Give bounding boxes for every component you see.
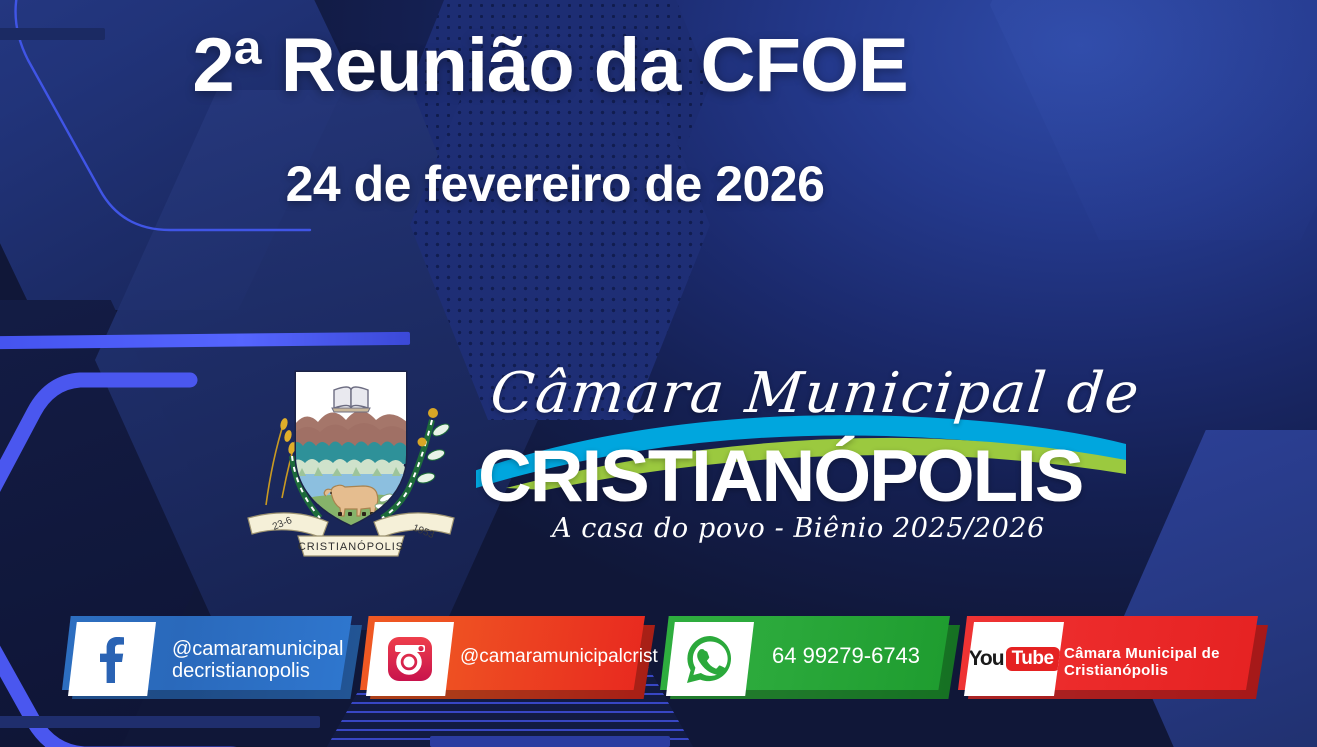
logo-script-line: Câmara Municipal de	[488, 361, 1144, 426]
social-bar-whatsapp[interactable]: 64 99279-6743	[660, 616, 950, 690]
youtube-logo-you: You	[968, 647, 1003, 671]
logo-tagline: A casa do povo - Biênio 2025/2026	[552, 513, 1045, 544]
whatsapp-number: 64 99279-6743	[772, 644, 920, 669]
facebook-icon-tab	[68, 622, 156, 696]
logo-city-name: CRISTIANÓPOLIS	[478, 435, 1082, 518]
youtube-icon: You Tube	[968, 647, 1059, 671]
youtube-icon-tab: You Tube	[964, 622, 1064, 696]
instagram-handle: @camaramunicipalcrist	[460, 646, 658, 667]
facebook-handle-line2: decristianopolis	[172, 660, 343, 682]
facebook-icon	[95, 635, 129, 683]
instagram-icon	[387, 636, 433, 682]
coat-of-arms-icon: 23-6 CRISTIANÓPOLIS 1953	[236, 360, 466, 565]
whatsapp-icon-tab	[666, 622, 754, 696]
background-hexagon-right	[1120, 430, 1317, 747]
social-bar-youtube[interactable]: You Tube Câmara Municipal de Cristianópo…	[958, 616, 1258, 690]
youtube-logo-tube: Tube	[1006, 647, 1060, 671]
wordmark: Câmara Municipal de CRISTIANÓPOLIS A cas…	[476, 355, 1136, 570]
ribbon-center-text: CRISTIANÓPOLIS	[298, 540, 404, 553]
instagram-icon-tab	[366, 622, 454, 696]
institution-logo: 23-6 CRISTIANÓPOLIS 1953 Câmara Municipa…	[236, 355, 1136, 570]
whatsapp-icon	[684, 633, 736, 685]
social-bar-facebook[interactable]: @camaramunicipal decristianopolis	[62, 616, 352, 690]
accent-line-bottom-center	[430, 736, 670, 747]
event-date: 24 de fevereiro de 2026	[0, 155, 1110, 213]
youtube-channel-name: Câmara Municipal de Cristianópolis	[1064, 646, 1258, 680]
facebook-handle-line1: @camaramunicipal	[172, 638, 343, 660]
accent-line-bottom-left	[0, 716, 320, 728]
social-bar-instagram[interactable]: @camaramunicipalcrist	[360, 616, 645, 690]
facebook-handle: @camaramunicipal decristianopolis	[172, 638, 343, 683]
event-banner: 2ª Reunião da CFOE 24 de fevereiro de 20…	[0, 0, 1317, 747]
open-book-icon	[332, 387, 370, 412]
page-title: 2ª Reunião da CFOE	[0, 22, 1100, 109]
